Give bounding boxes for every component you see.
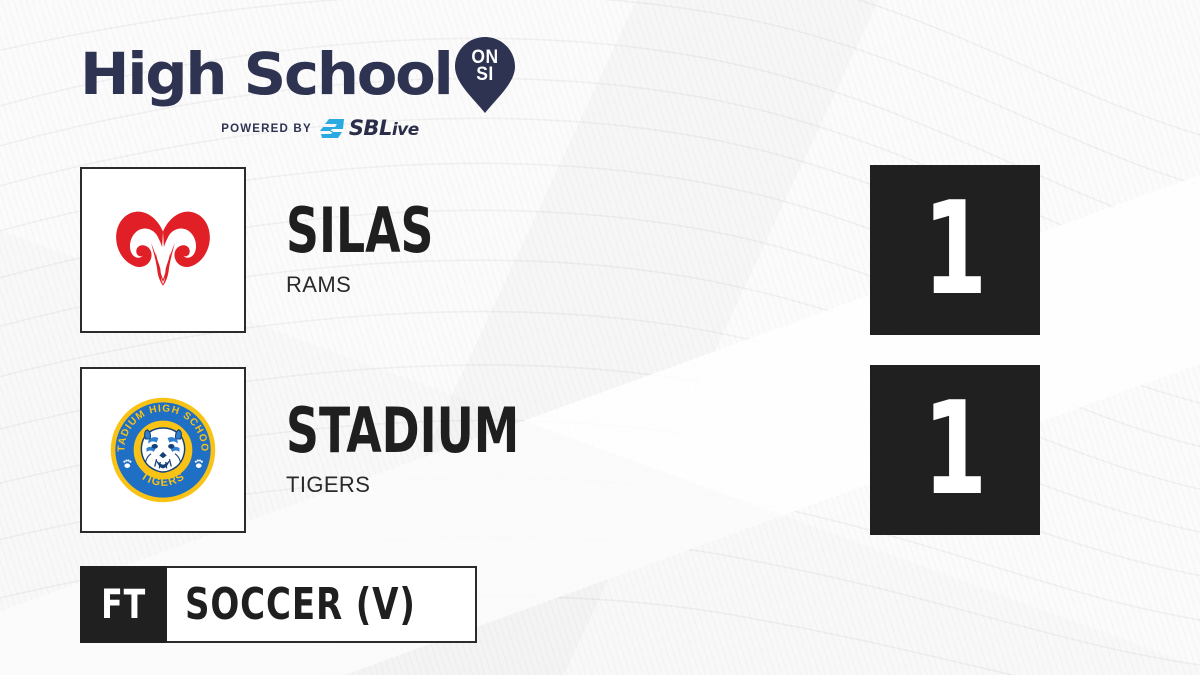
team-score: 1 <box>923 386 987 514</box>
tiger-head-mark <box>141 428 184 472</box>
sblive-suffix: ive <box>392 120 419 140</box>
powered-by-row: POWERED BY SBLive <box>80 118 520 139</box>
team-score: 1 <box>923 186 987 314</box>
brand-title-row: High School ON SI <box>80 36 520 114</box>
status-period-chip: FT <box>80 566 167 643</box>
powered-by-label: POWERED BY <box>221 123 312 135</box>
team-name: SILAS <box>286 202 970 259</box>
team-logo-card <box>80 167 246 333</box>
team-logo-card: STADIUM HIGH SCHOOL TIGERS <box>80 367 246 533</box>
status-period-label: FT <box>101 582 146 628</box>
ram-head-logo-icon <box>108 195 218 305</box>
sblive-main: SBL <box>349 116 392 140</box>
game-status-bar: FT SOCCER (V) <box>80 566 477 643</box>
team-score-box: 1 <box>870 165 1040 335</box>
sblive-logo: SBLive <box>320 118 419 139</box>
status-sport-label: SOCCER (V) <box>185 579 416 630</box>
pin-line-si: SI <box>457 66 514 83</box>
tiger-circle-crest-logo-icon: STADIUM HIGH SCHOOL TIGERS <box>108 395 218 505</box>
scoreboard-graphic: High School ON SI POWERED BY SBLive <box>0 0 1200 675</box>
sblive-s-icon <box>320 118 346 139</box>
on-si-pin-icon: ON SI <box>454 36 516 114</box>
status-sport-panel: SOCCER (V) <box>167 566 477 643</box>
on-si-pin-text: ON SI <box>457 49 514 83</box>
team-name: STADIUM <box>286 402 970 459</box>
sblive-wordmark: SBLive <box>349 118 419 139</box>
team-score-box: 1 <box>870 365 1040 535</box>
brand-header: High School ON SI POWERED BY SBLive <box>80 36 520 139</box>
brand-title: High School <box>80 47 452 102</box>
